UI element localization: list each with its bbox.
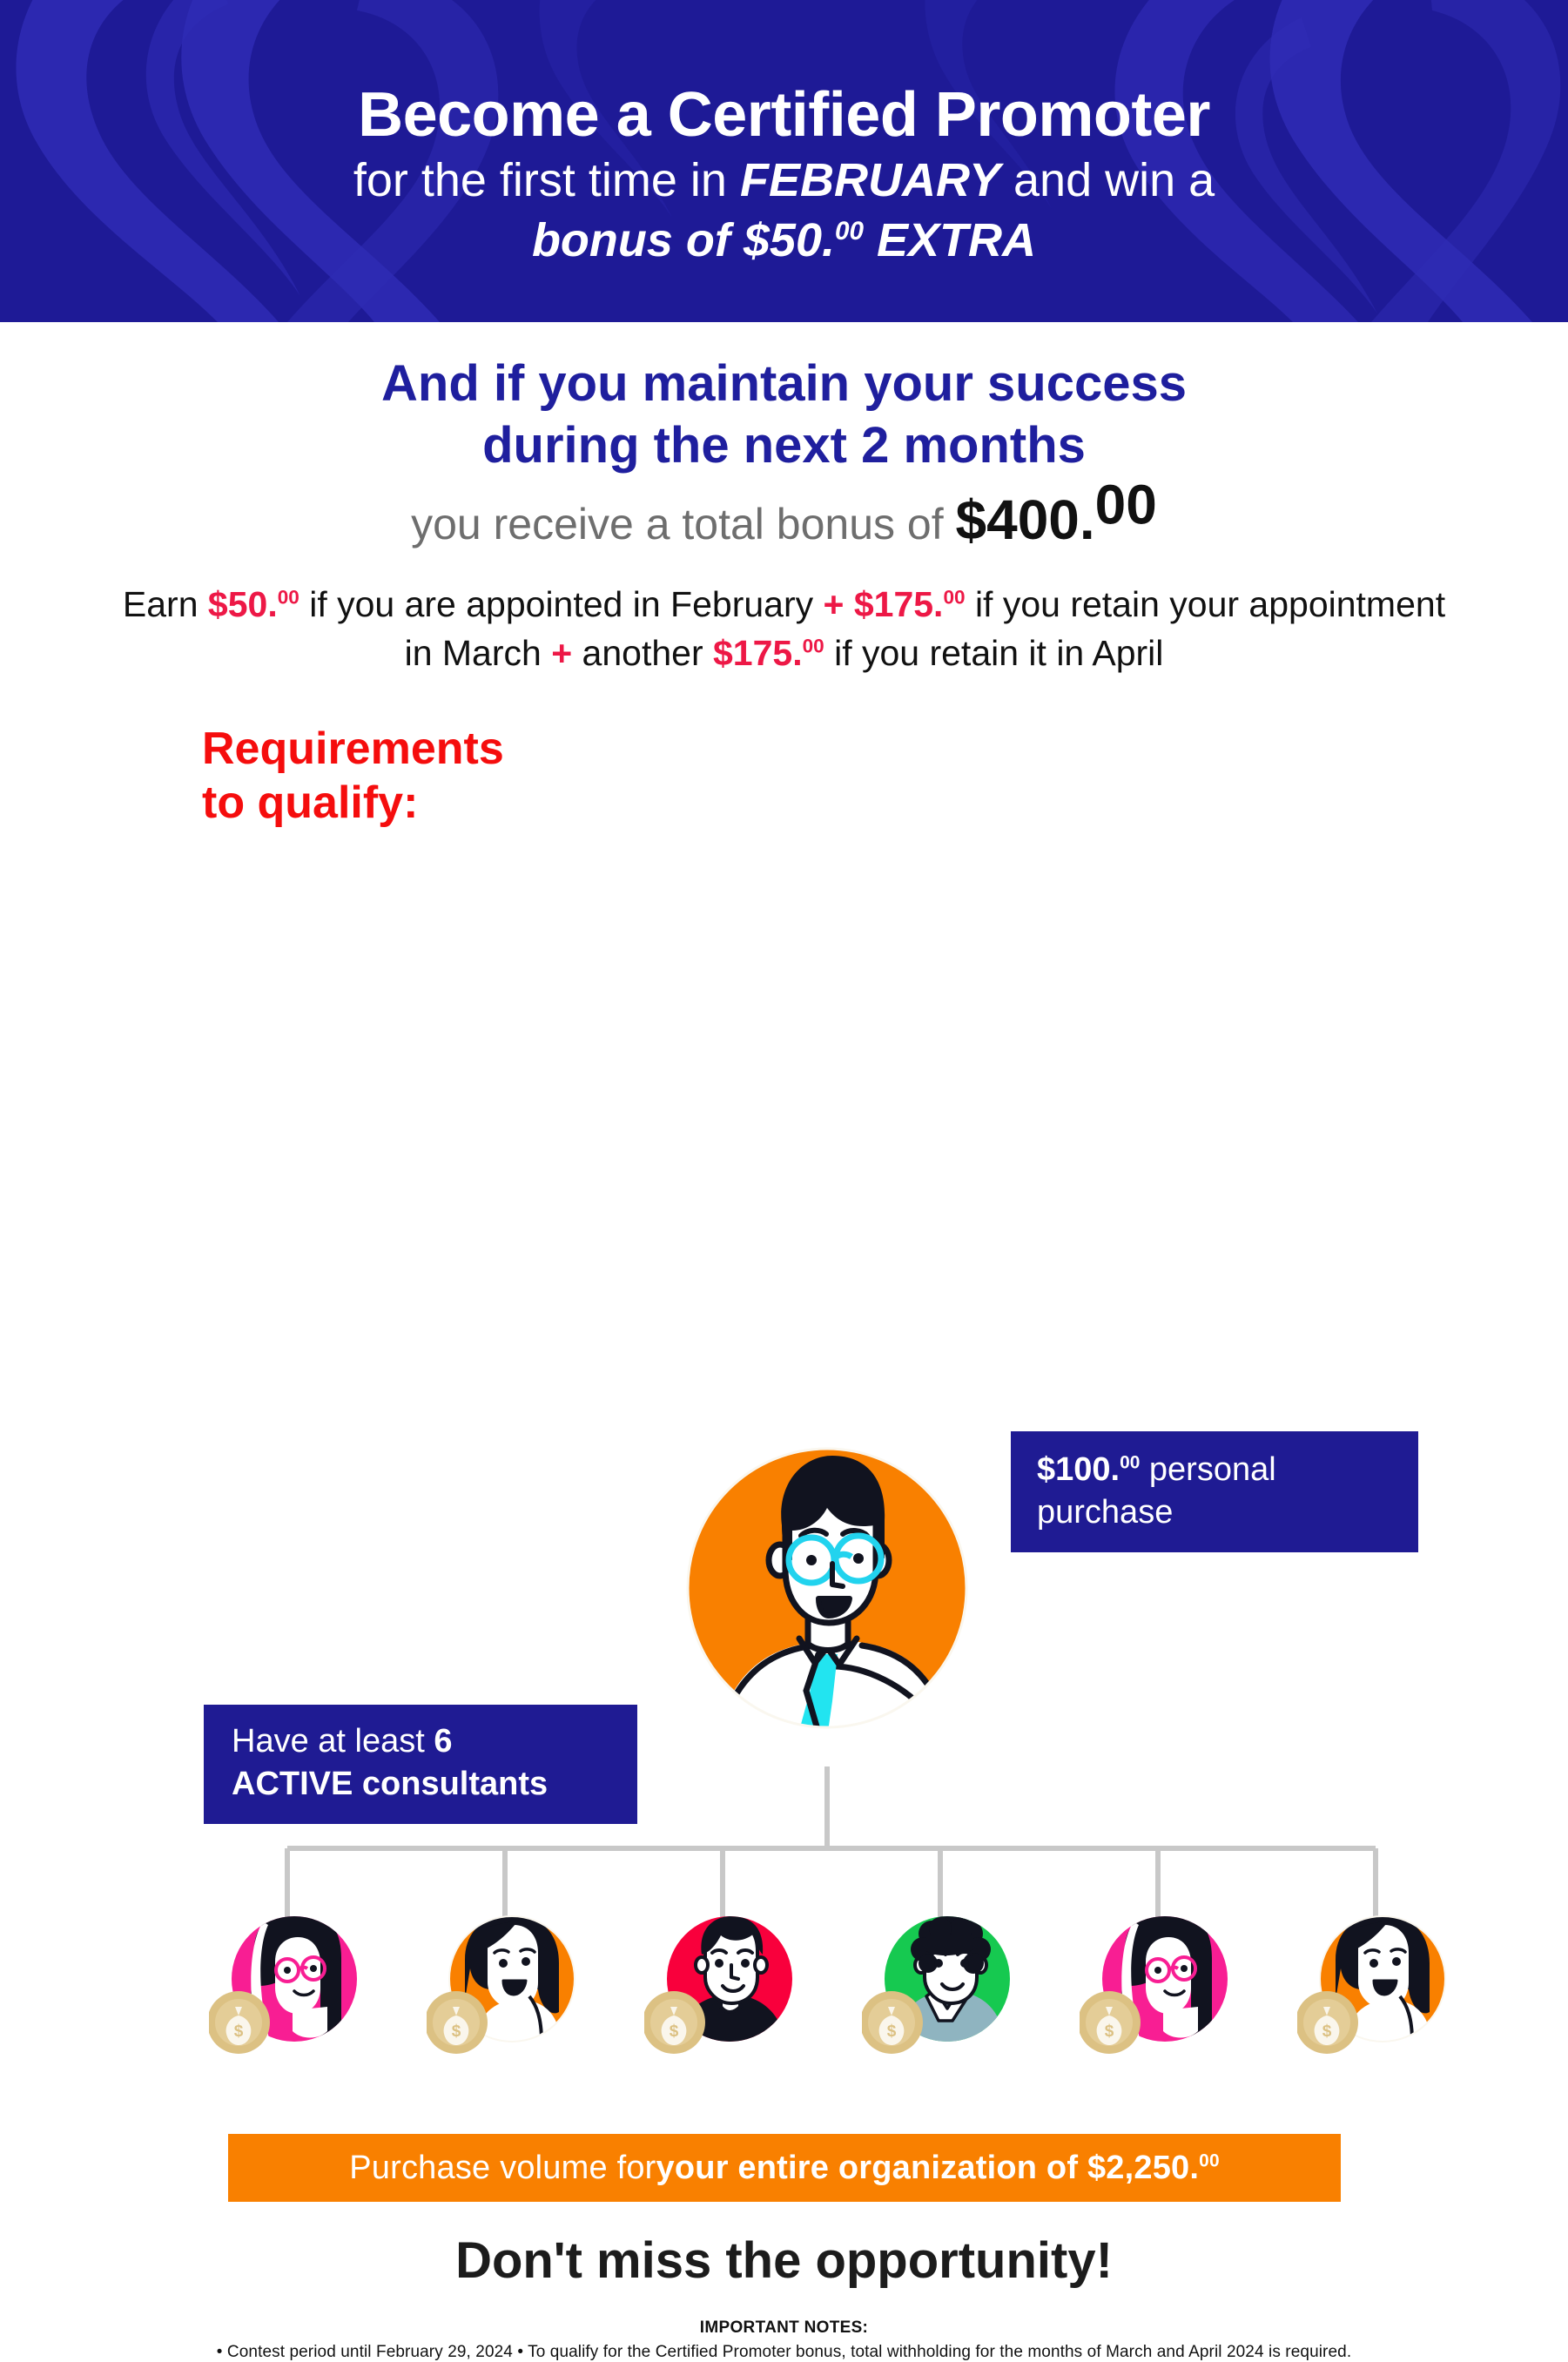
certified-promoter-avatar-icon [653, 1414, 1001, 1762]
requirements-title: Requirements to qualify: [202, 722, 504, 831]
purchase-volume-amount: your entire organization of $2,250. [656, 2150, 1200, 2187]
earn-plus-1: + [824, 584, 845, 624]
header-banner: Become a Certified Promoter for the firs… [0, 0, 1568, 322]
header-month: FEBRUARY [740, 154, 1000, 206]
header-subtitle-pre: for the first time in [353, 154, 740, 206]
consultant-avatar-woman-bob-icon: $ [427, 1909, 583, 2066]
important-notes-title: IMPORTANT NOTES: [0, 2318, 1568, 2338]
requirements-title-line-2: to qualify: [202, 776, 504, 830]
header-bonus-line: bonus of $50.00 EXTRA [0, 212, 1568, 269]
earn-amount-february-cents: 00 [278, 586, 299, 608]
personal-purchase-cents: 00 [1120, 1452, 1140, 1472]
consultant-avatar-person-curly-icon: $ [862, 1909, 1019, 2066]
earn-plus-2: + [551, 633, 572, 673]
earn-amount-april: $175. [713, 633, 803, 673]
subhead-line-1: And if you maintain your success [0, 353, 1568, 415]
svg-text:$: $ [234, 2022, 244, 2041]
earn-amount-february: $50. [208, 584, 278, 624]
earn-amount-march-cents: 00 [943, 586, 965, 608]
svg-text:$: $ [1322, 2022, 1332, 2041]
earn-amount-april-cents: 00 [803, 636, 824, 657]
earn-t2: if you are appointed in February [299, 584, 824, 624]
requirement-personal-purchase: $100.00 personal purchase [1011, 1431, 1418, 1552]
total-bonus-label: you receive a total bonus of [411, 500, 955, 548]
closing-headline: Don't miss the opportunity! [0, 2231, 1568, 2290]
subhead-line-2: during the next 2 months [0, 415, 1568, 477]
consultant-avatar-woman-bob-icon: $ [1297, 1909, 1454, 2066]
purchase-volume-cents: 00 [1199, 2150, 1220, 2170]
total-bonus-line: you receive a total bonus of $400.00 [0, 489, 1568, 550]
svg-text:$: $ [452, 2022, 461, 2041]
earn-t5: if you retain it in April [824, 633, 1164, 673]
requirements-title-line-1: Requirements [202, 722, 504, 776]
header-bonus-cents: 00 [835, 217, 864, 246]
subhead-block: And if you maintain your success during … [0, 353, 1568, 550]
header-bonus-extra: EXTRA [864, 214, 1036, 266]
requirements-section: Requirements to qualify: [0, 697, 1568, 1237]
svg-text:$: $ [670, 2022, 679, 2041]
consultant-avatar-man-short-hair-icon: $ [644, 1909, 801, 2066]
earn-t4: another [572, 633, 713, 673]
consultant-avatar-woman-glasses-icon: $ [1080, 1909, 1236, 2066]
header-subtitle: for the first time in FEBRUARY and win a [0, 151, 1568, 211]
earn-t1: Earn [123, 584, 208, 624]
personal-purchase-amount: $100. [1037, 1451, 1120, 1488]
purchase-volume-pre: Purchase volume for [349, 2150, 656, 2187]
consultants-count: 6 [434, 1723, 452, 1760]
total-bonus-amount: $400. [956, 488, 1095, 551]
header-subtitle-post: and win a [1000, 154, 1215, 206]
svg-text:$: $ [887, 2022, 897, 2041]
purchase-volume-bar: Purchase volume for your entire organiza… [228, 2134, 1341, 2202]
consultants-row: $ $ [0, 1909, 1568, 2101]
header-bonus-amount: bonus of $50. [532, 214, 835, 266]
consultant-avatar-woman-glasses-icon: $ [209, 1909, 366, 2066]
earn-breakdown-paragraph: Earn $50.00 if you are appointed in Febr… [0, 580, 1568, 678]
important-notes-body: • Contest period until February 29, 2024… [0, 2343, 1568, 2362]
total-bonus-cents: 00 [1095, 473, 1157, 535]
consultants-pre: Have at least [232, 1723, 434, 1760]
earn-amount-march: $175. [844, 584, 943, 624]
svg-text:$: $ [1105, 2022, 1114, 2041]
header-title: Become a Certified Promoter [0, 84, 1568, 146]
